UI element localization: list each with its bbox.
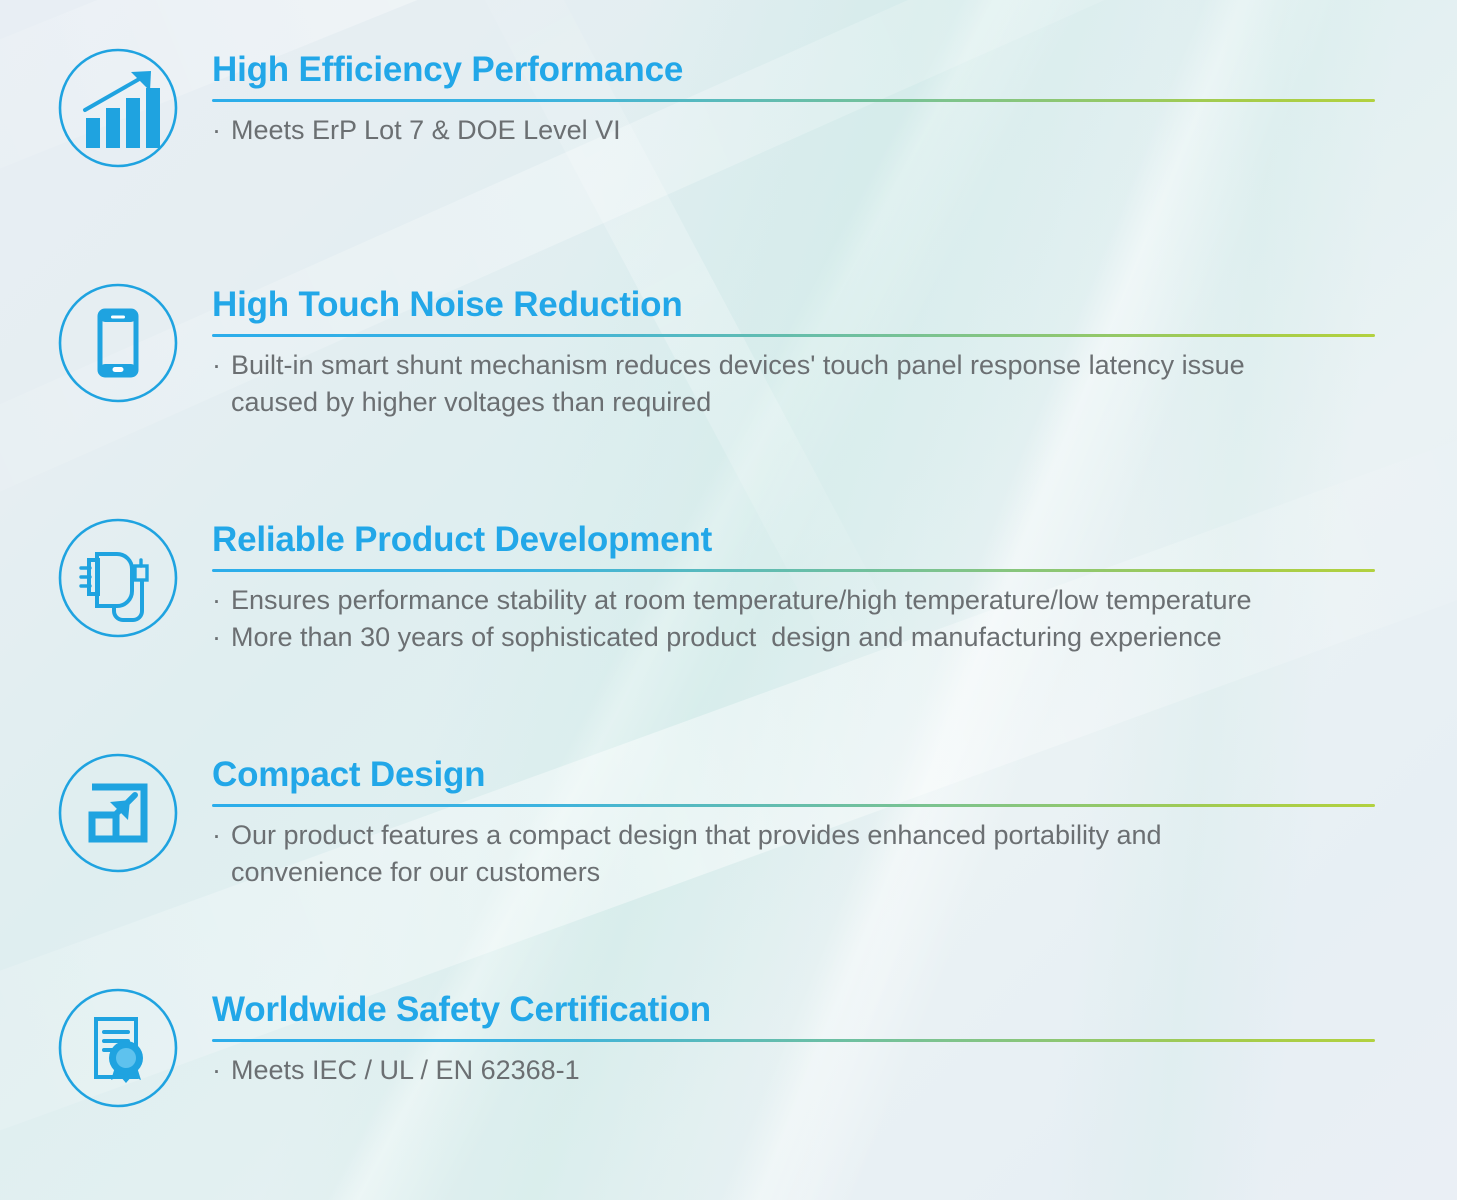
feature-text-block: Compact Design ·Our product features a c… <box>212 751 1457 891</box>
feature-title: Reliable Product Development <box>212 518 1457 562</box>
feature-item-high-touch-noise-reduction: High Touch Noise Reduction ·Built-in sma… <box>0 281 1457 421</box>
feature-divider <box>212 569 1375 572</box>
feature-bullet-line: ·More than 30 years of sophisticated pro… <box>212 619 1457 656</box>
feature-bullet-text: Meets IEC / UL / EN 62368-1 <box>231 1055 580 1085</box>
feature-bullet-line: ·Built-in smart shunt mechanism reduces … <box>212 347 1457 384</box>
bullet-marker: · <box>212 817 231 854</box>
bullet-marker: · <box>212 619 231 656</box>
bullet-marker: · <box>212 112 231 149</box>
feature-divider <box>212 334 1375 337</box>
feature-bullet-text: Built-in smart shunt mechanism reduces d… <box>231 350 1245 380</box>
feature-bullet-text: Meets ErP Lot 7 & DOE Level VI <box>231 115 621 145</box>
feature-bullet-line: ·Meets IEC / UL / EN 62368-1 <box>212 1052 1457 1089</box>
feature-title: High Touch Noise Reduction <box>212 283 1457 327</box>
bar-chart-growth-icon <box>56 46 180 170</box>
feature-bullet-line: ·Ensures performance stability at room t… <box>212 582 1457 619</box>
compact-resize-icon <box>56 751 180 875</box>
feature-text-block: Reliable Product Development ·Ensures pe… <box>212 516 1457 656</box>
feature-divider <box>212 804 1375 807</box>
feature-divider <box>212 99 1375 102</box>
feature-continuation-text: caused by higher voltages than required <box>231 384 711 421</box>
power-adapter-icon <box>56 516 180 640</box>
feature-bullet-text: Ensures performance stability at room te… <box>231 585 1251 615</box>
bullet-marker: · <box>212 1052 231 1089</box>
bullet-marker: · <box>212 347 231 384</box>
feature-title: Worldwide Safety Certification <box>212 988 1457 1032</box>
feature-continuation-line: caused by higher voltages than required <box>212 384 1457 421</box>
feature-item-reliable-product-development: Reliable Product Development ·Ensures pe… <box>0 516 1457 656</box>
feature-text-block: Worldwide Safety Certification ·Meets IE… <box>212 986 1457 1089</box>
feature-bullet-text: More than 30 years of sophisticated prod… <box>231 622 1222 652</box>
feature-bullet-line: ·Our product features a compact design t… <box>212 817 1457 854</box>
feature-continuation-text: convenience for our customers <box>231 854 600 891</box>
feature-item-worldwide-safety-certification: Worldwide Safety Certification ·Meets IE… <box>0 986 1457 1110</box>
feature-item-compact-design: Compact Design ·Our product features a c… <box>0 751 1457 891</box>
bullet-marker: · <box>212 582 231 619</box>
feature-bullet-line: ·Meets ErP Lot 7 & DOE Level VI <box>212 112 1457 149</box>
feature-item-high-efficiency-performance: High Efficiency Performance ·Meets ErP L… <box>0 46 1457 170</box>
feature-title: High Efficiency Performance <box>212 48 1457 92</box>
feature-continuation-line: convenience for our customers <box>212 854 1457 891</box>
feature-text-block: High Touch Noise Reduction ·Built-in sma… <box>212 281 1457 421</box>
feature-title: Compact Design <box>212 753 1457 797</box>
certificate-seal-icon <box>56 986 180 1110</box>
smartphone-icon <box>56 281 180 405</box>
feature-bullet-text: Our product features a compact design th… <box>231 820 1162 850</box>
feature-highlights-panel: High Efficiency Performance ·Meets ErP L… <box>0 0 1457 1200</box>
feature-text-block: High Efficiency Performance ·Meets ErP L… <box>212 46 1457 149</box>
feature-divider <box>212 1039 1375 1042</box>
